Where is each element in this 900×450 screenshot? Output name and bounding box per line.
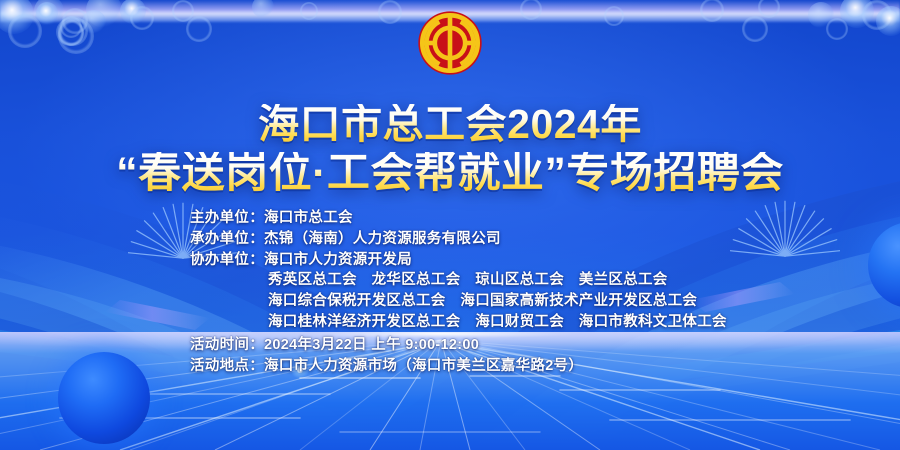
event-place-row: 活动地点：海口市人力资源市场（海口市美兰区嘉华路2号） [190, 356, 810, 377]
coorganizer-label: 协办单位： [190, 252, 264, 268]
coorganizer-extra-row: 秀英区总工会 龙华区总工会 琼山区总工会 美兰区总工会 [190, 270, 810, 291]
page-title-line-1: 海口市总工会2024年 [0, 104, 900, 145]
undertaker-row: 承办单位：杰锦（海南）人力资源服务有限公司 [190, 229, 810, 250]
event-time-label: 活动时间： [190, 337, 264, 353]
event-place-value: 海口市人力资源市场（海口市美兰区嘉华路2号） [264, 358, 583, 374]
organizer-row: 主办单位：海口市总工会 [190, 208, 810, 229]
decorative-sphere-left [58, 352, 150, 444]
event-time-value: 2024年3月22日 上午 9:00-12:00 [264, 337, 479, 353]
organizer-label: 主办单位： [190, 210, 264, 226]
organizer-value: 海口市总工会 [264, 210, 353, 226]
page-title-line-2: “春送岗位·工会帮就业”专场招聘会 [0, 152, 900, 195]
coorganizer-value: 海口市人力资源开发局 [264, 252, 412, 268]
event-time-row: 活动时间：2024年3月22日 上午 9:00-12:00 [190, 333, 810, 356]
trade-union-emblem-icon [417, 10, 483, 76]
coorganizer-extra-row: 海口桂林洋经济开发区总工会 海口财贸工会 海口市教科文卫体工会 [190, 312, 810, 333]
coorganizer-extra-row: 海口综合保税开发区总工会 海口国家高新技术产业开发区总工会 [190, 291, 810, 312]
recruitment-poster: 海口市总工会2024年 “春送岗位·工会帮就业”专场招聘会 主办单位：海口市总工… [0, 0, 900, 450]
coorganizer-row: 协办单位：海口市人力资源开发局 [190, 250, 810, 271]
undertaker-value: 杰锦（海南）人力资源服务有限公司 [264, 231, 501, 247]
event-info-block: 主办单位：海口市总工会 承办单位：杰锦（海南）人力资源服务有限公司 协办单位：海… [190, 208, 810, 376]
undertaker-label: 承办单位： [190, 231, 264, 247]
event-place-label: 活动地点： [190, 358, 264, 374]
